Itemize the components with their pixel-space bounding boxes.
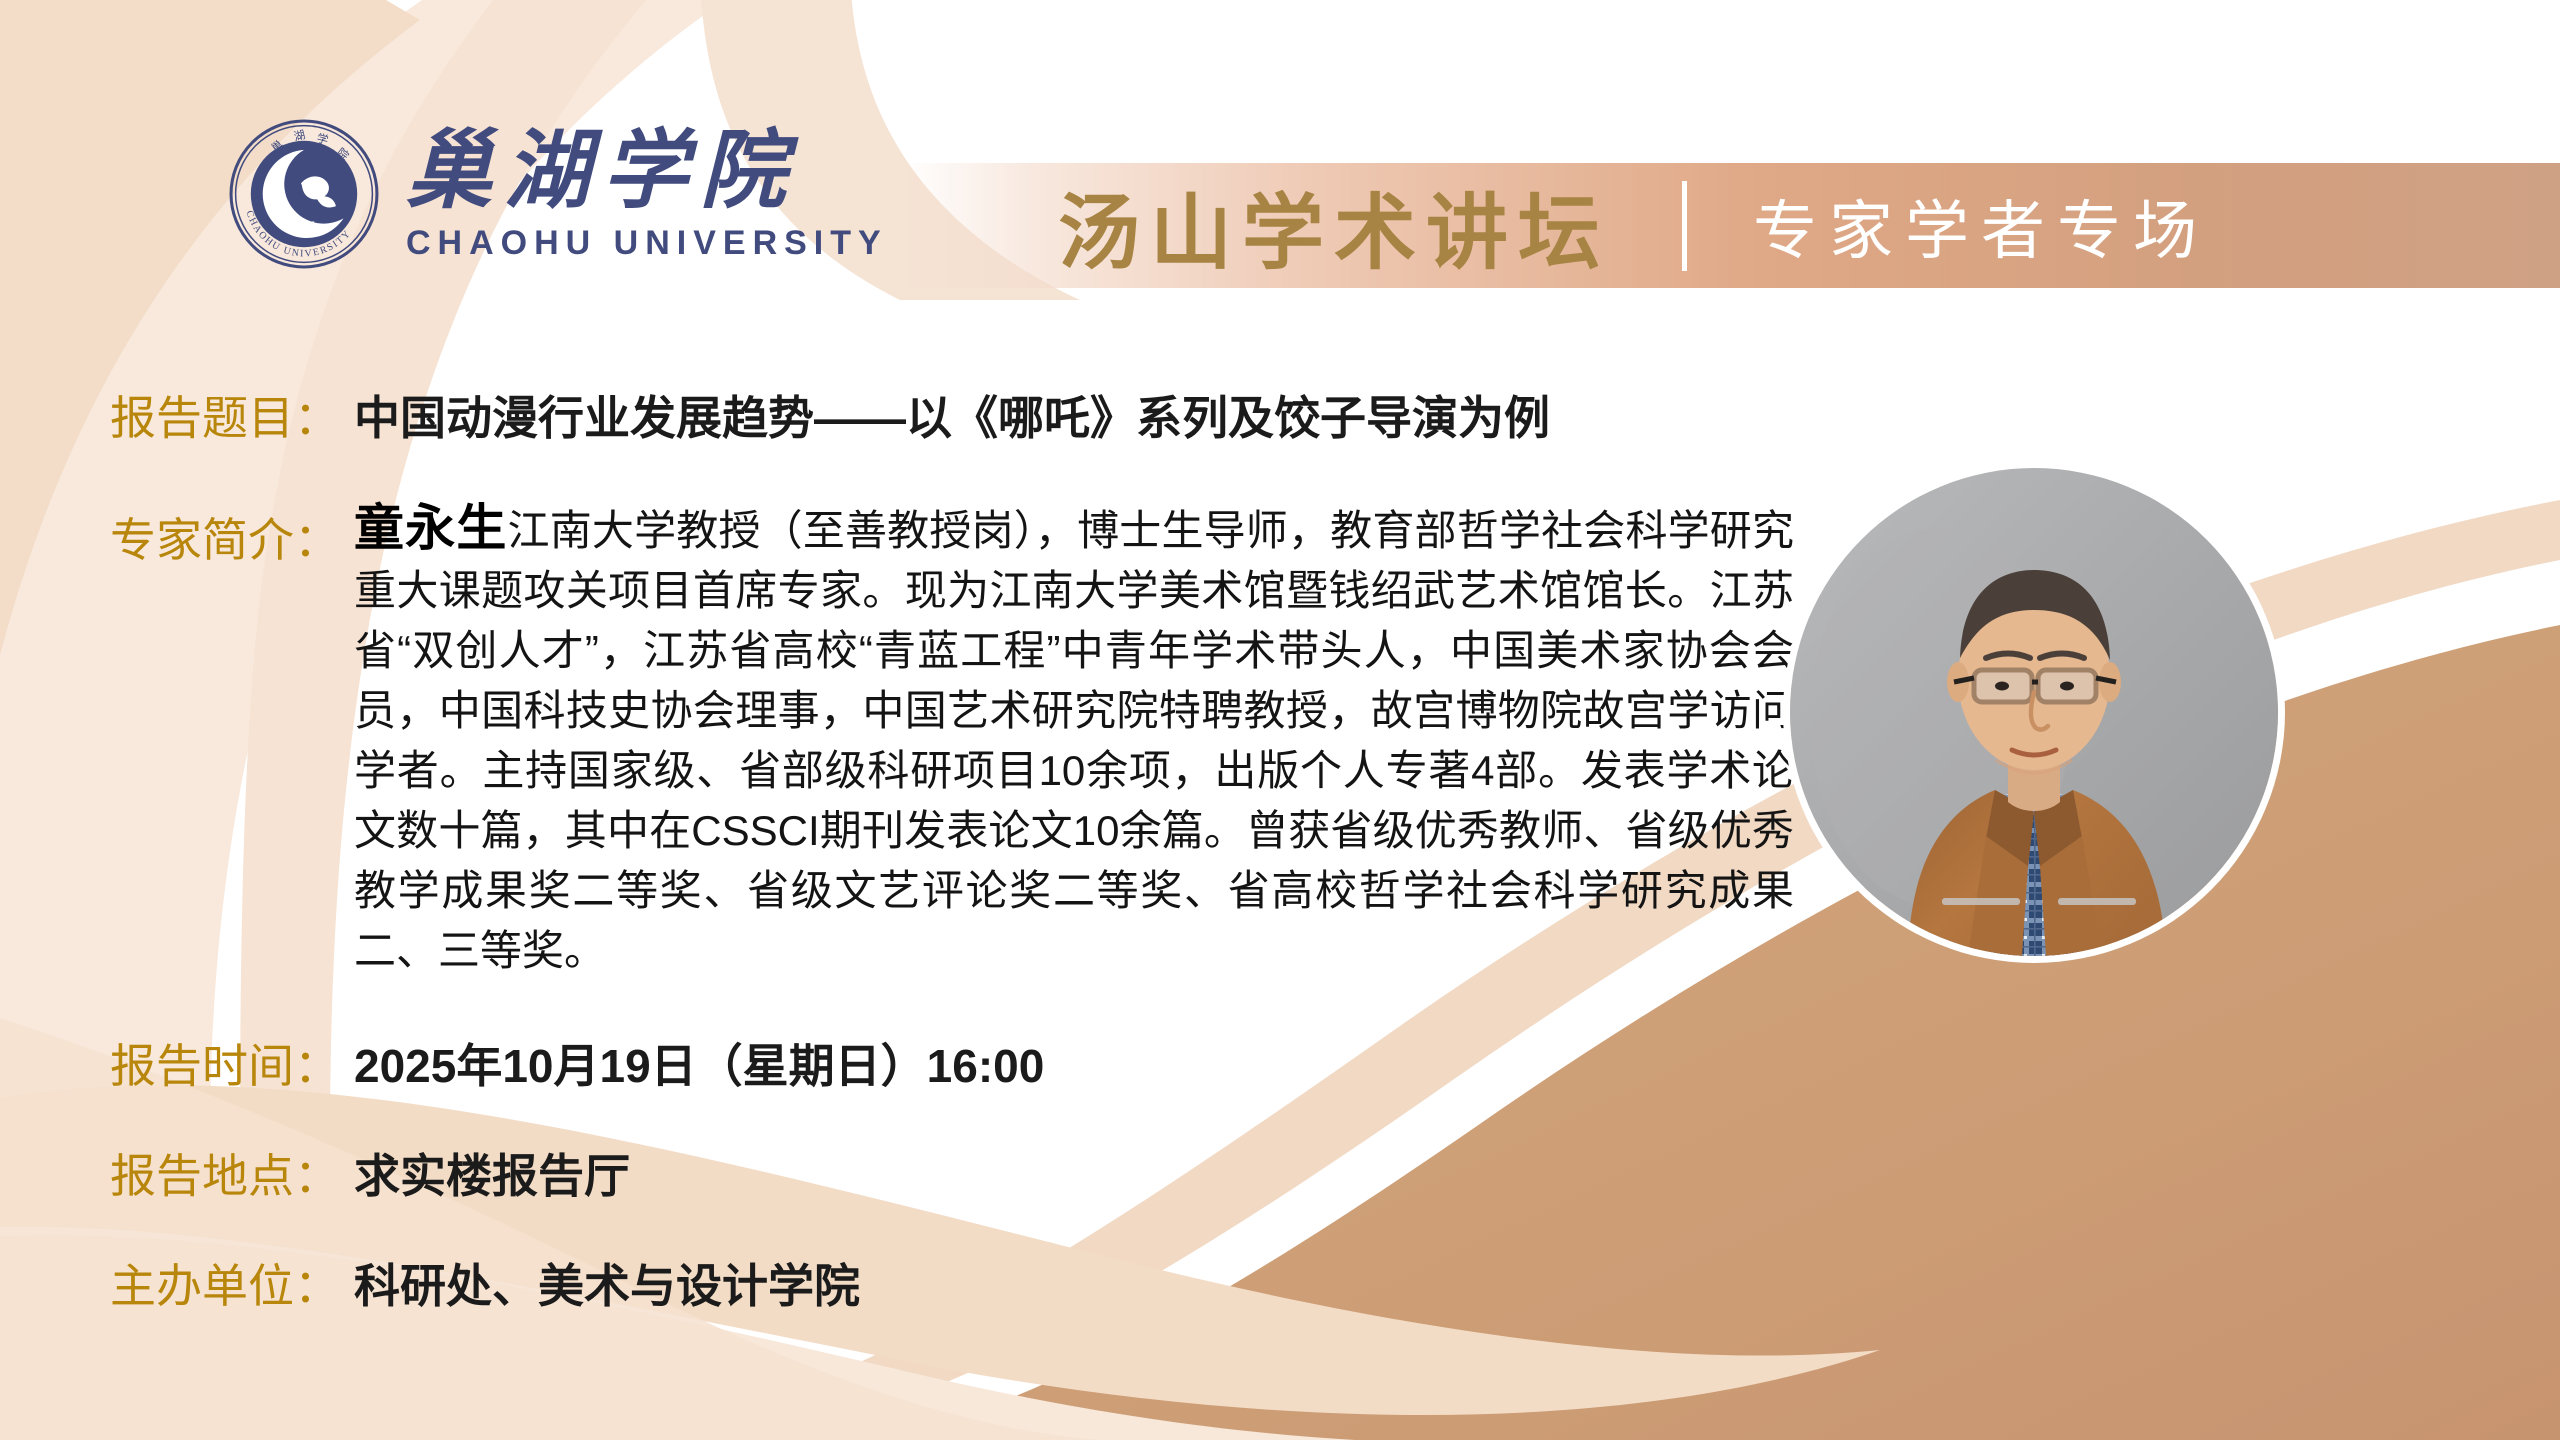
- talk-place-value: 求实楼报告厅: [354, 1140, 630, 1206]
- talk-title-label: 报告题目：: [110, 382, 340, 448]
- talk-title-row: 报告题目： 中国动漫行业发展趋势——以《哪吒》系列及饺子导演为例: [110, 382, 1550, 448]
- banner-divider: [1682, 181, 1687, 271]
- speaker-portrait: [1790, 468, 2278, 956]
- svg-text:湖: 湖: [292, 127, 306, 143]
- talk-time-row: 报告时间： 2025年10月19日（星期日）16:00: [110, 1030, 1044, 1096]
- speaker-bio-label: 专家简介：: [110, 498, 340, 570]
- talk-place-row: 报告地点： 求实楼报告厅: [110, 1140, 630, 1206]
- talk-place-label: 报告地点：: [110, 1140, 340, 1206]
- university-logo-block: 1977 巢 湖 学 院 CHAOHU UNIVERSITY 巢湖学院 CHAO…: [228, 118, 888, 270]
- svg-text:学: 学: [315, 131, 329, 147]
- talk-time-label: 报告时间：: [110, 1030, 340, 1096]
- poster-canvas: 1977 巢 湖 学 院 CHAOHU UNIVERSITY 巢湖学院 CHAO…: [0, 0, 2560, 1440]
- talk-host-label: 主办单位：: [110, 1250, 340, 1316]
- speaker-bio-body: 童永生江南大学教授（至善教授岗），博士生导师，教育部哲学社会科学研究重大课题攻关…: [354, 498, 1794, 981]
- series-title: 汤山学术讲坛: [1058, 166, 1610, 285]
- series-banner: 汤山学术讲坛 专家学者专场: [900, 163, 2560, 288]
- speaker-name: 童永生: [354, 500, 508, 556]
- university-name-block: 巢湖学院 CHAOHU UNIVERSITY: [406, 128, 888, 260]
- talk-title-value: 中国动漫行业发展趋势——以《哪吒》系列及饺子导演为例: [354, 382, 1550, 448]
- seal-year: 1977: [294, 220, 315, 231]
- speaker-portrait-image: [1790, 468, 2278, 956]
- university-seal-icon: 1977 巢 湖 学 院 CHAOHU UNIVERSITY: [228, 118, 380, 270]
- poster-header: 1977 巢 湖 学 院 CHAOHU UNIVERSITY 巢湖学院 CHAO…: [0, 0, 2560, 320]
- university-name-cn: 巢湖学院: [406, 128, 888, 214]
- talk-time-value: 2025年10月19日（星期日）16:00: [354, 1030, 1044, 1096]
- talk-host-row: 主办单位： 科研处、美术与设计学院: [110, 1250, 860, 1316]
- university-name-en: CHAOHU UNIVERSITY: [406, 226, 888, 260]
- series-subtitle: 专家学者专场: [1753, 180, 2209, 272]
- speaker-bio-text: 江南大学教授（至善教授岗），博士生导师，教育部哲学社会科学研究重大课题攻关项目首…: [354, 507, 1794, 974]
- talk-host-value: 科研处、美术与设计学院: [354, 1250, 860, 1316]
- speaker-bio-row: 专家简介： 童永生江南大学教授（至善教授岗），博士生导师，教育部哲学社会科学研究…: [110, 498, 1870, 981]
